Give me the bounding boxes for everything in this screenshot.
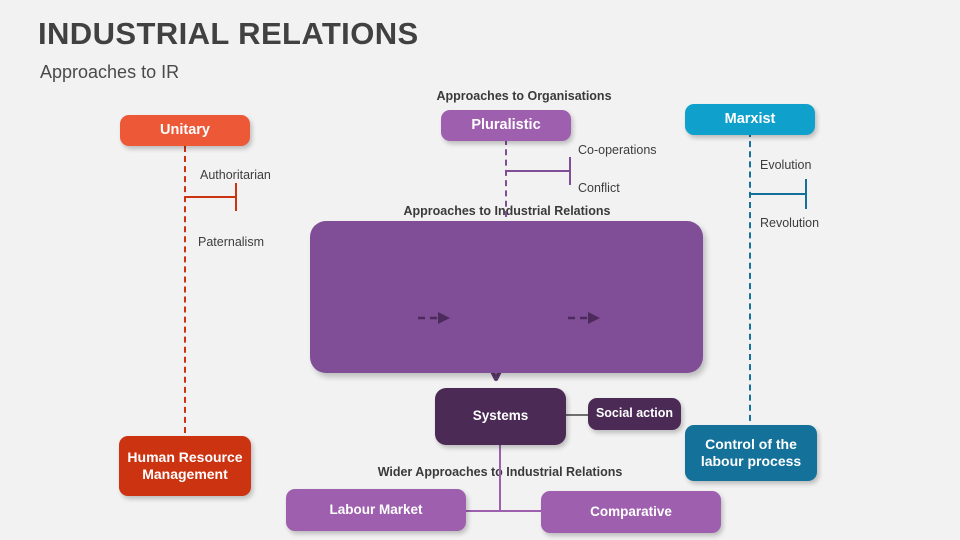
connector-unitary-branch-vertical	[235, 183, 237, 211]
node-comparative-label: Comparative	[590, 504, 672, 520]
node-human-resource-management[interactable]: Human Resource Management	[119, 436, 251, 496]
caption-co-operations: Co-operations	[578, 143, 657, 157]
node-social-action[interactable]: Social action	[588, 398, 681, 430]
connector-wider-horizontal	[466, 510, 542, 512]
node-pluralistic[interactable]: Pluralistic	[441, 110, 571, 141]
page-subtitle: Approaches to IR	[40, 62, 179, 83]
node-systems[interactable]: Systems	[435, 388, 566, 445]
page-title: INDUSTRIAL RELATIONS	[38, 16, 419, 52]
connector-unitary-branch-horizontal	[185, 196, 237, 198]
main-model-box	[310, 221, 703, 373]
connector-systems-to-wider	[499, 445, 501, 511]
section-label-organisations: Approaches to Organisations	[394, 89, 654, 103]
node-unitary[interactable]: Unitary	[120, 115, 250, 146]
node-pluralistic-label: Pluralistic	[471, 117, 540, 135]
connector-unitary-trunk	[184, 146, 186, 443]
node-systems-label: Systems	[473, 408, 529, 424]
caption-authoritarian: Authoritarian	[200, 168, 271, 182]
slide-canvas: INDUSTRIAL RELATIONS Approaches to IR Ap…	[0, 0, 960, 540]
node-marxist[interactable]: Marxist	[685, 104, 815, 135]
node-control-line1: Control of the	[705, 436, 797, 452]
node-labour-market-label: Labour Market	[329, 502, 422, 518]
node-comparative[interactable]: Comparative	[541, 491, 721, 533]
node-labour-market[interactable]: Labour Market	[286, 489, 466, 531]
caption-evolution: Evolution	[760, 158, 811, 172]
node-control-line2: labour process	[701, 453, 801, 469]
connector-pluralistic-trunk	[505, 139, 507, 217]
node-control-of-labour-process[interactable]: Control of the labour process	[685, 425, 817, 481]
caption-paternalism: Paternalism	[198, 235, 264, 249]
connector-pluralistic-branch-vertical	[569, 157, 571, 185]
section-label-industrial-relations: Approaches to Industrial Relations	[377, 204, 637, 218]
node-hrm-line1: Human Resource	[127, 449, 242, 465]
node-control-label: Control of the labour process	[701, 436, 801, 470]
caption-conflict: Conflict	[578, 181, 620, 195]
connector-pluralistic-branch-horizontal	[506, 170, 571, 172]
node-hrm-label: Human Resource Management	[127, 449, 242, 483]
connector-marxist-branch-horizontal	[750, 193, 807, 195]
caption-revolution: Revolution	[760, 216, 819, 230]
node-marxist-label: Marxist	[725, 111, 776, 129]
node-unitary-label: Unitary	[160, 122, 210, 140]
node-social-action-label: Social action	[596, 406, 673, 421]
connector-marxist-branch-vertical	[805, 179, 807, 209]
connector-marxist-trunk	[749, 131, 751, 431]
node-hrm-line2: Management	[142, 466, 228, 482]
